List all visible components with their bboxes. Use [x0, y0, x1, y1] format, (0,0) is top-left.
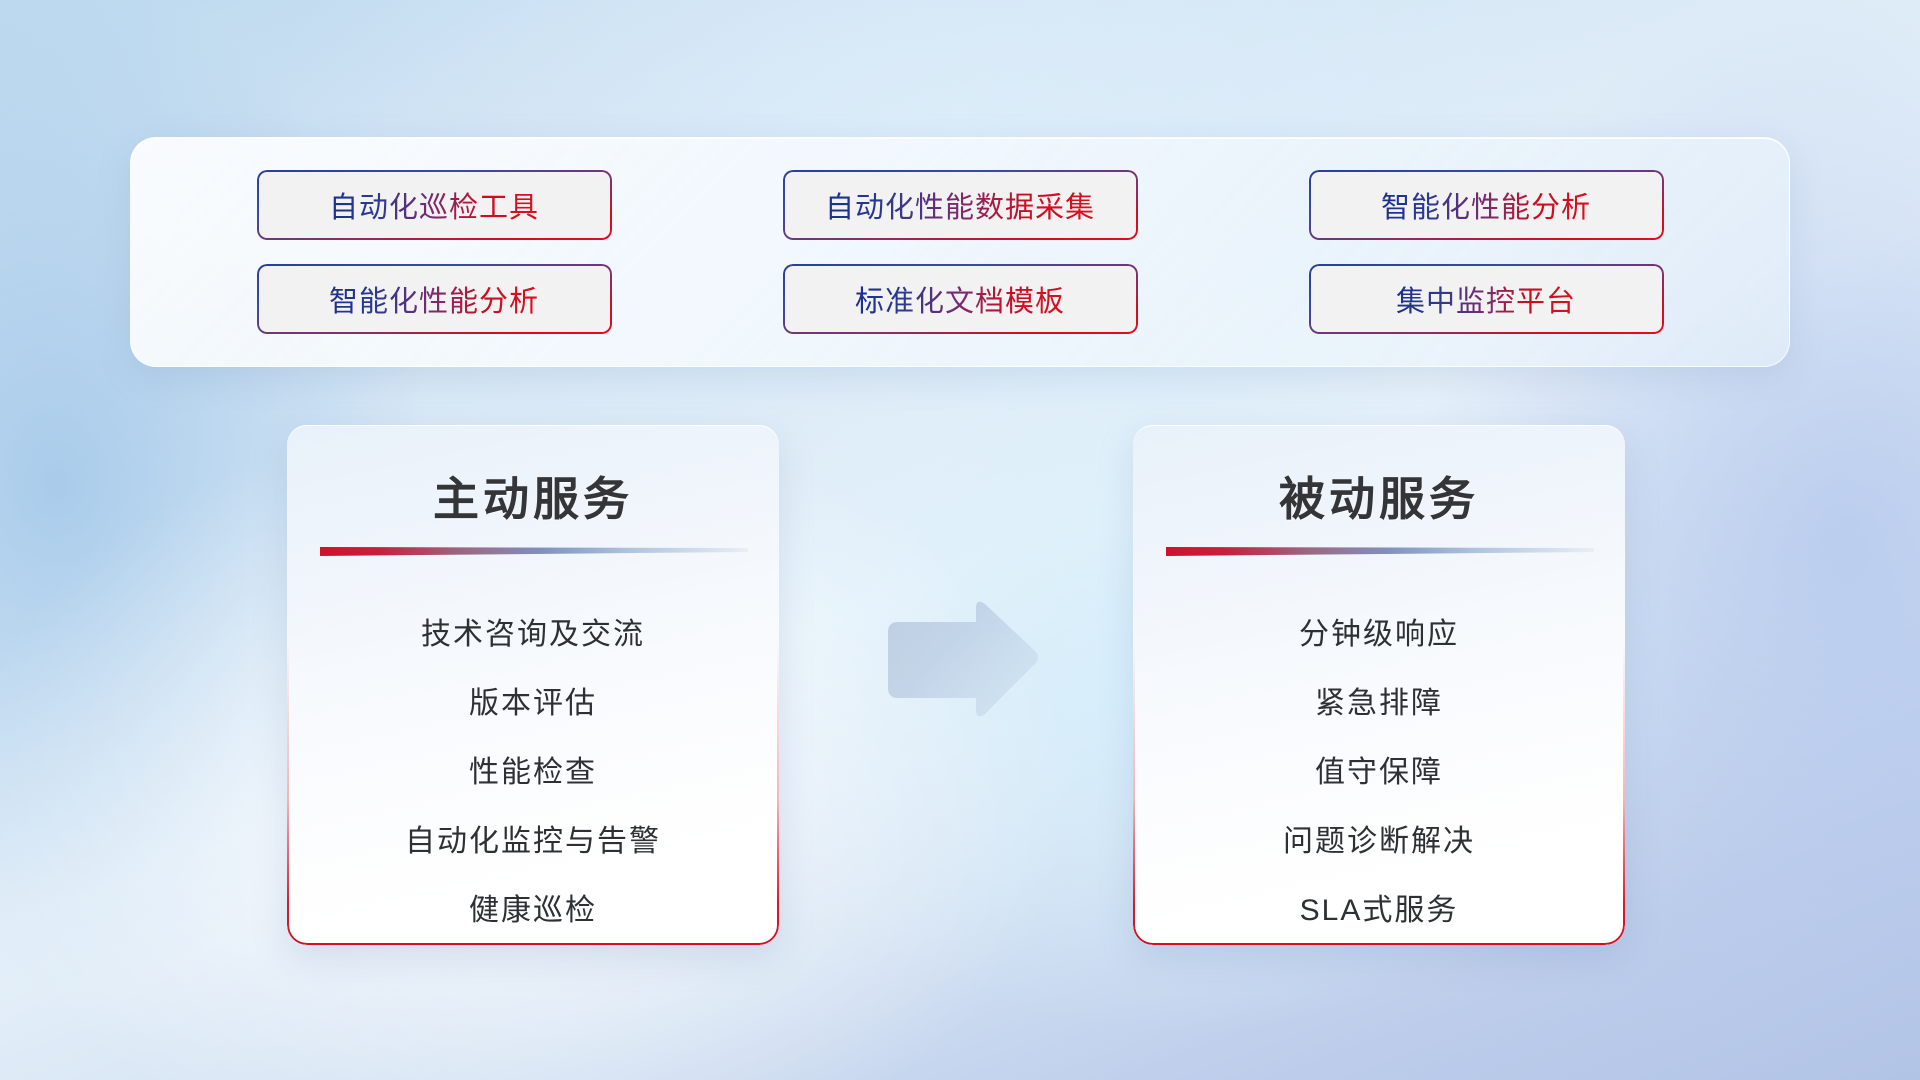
capability-tag-label: 自动化性能数据采集	[825, 184, 1095, 226]
slide-canvas: 自动化巡检工具 自动化性能数据采集 智能化性能分析 智能化性能分析 标准化文档模…	[0, 0, 1920, 1080]
capability-tag[interactable]: 自动化巡检工具	[257, 170, 612, 240]
card-title: 被动服务	[1133, 463, 1625, 529]
list-item: 健康巡检	[469, 876, 597, 945]
card-title: 主动服务	[287, 463, 779, 529]
capability-tag-label: 智能化性能分析	[1381, 184, 1591, 226]
capability-tag[interactable]: 智能化性能分析	[1309, 170, 1664, 240]
capability-tag-grid: 自动化巡检工具 自动化性能数据采集 智能化性能分析 智能化性能分析 标准化文档模…	[131, 138, 1789, 366]
capability-tag-label: 集中监控平台	[1396, 278, 1576, 320]
list-item: 分钟级响应	[1299, 600, 1459, 669]
capability-tag-label: 标准化文档模板	[855, 278, 1065, 320]
list-item: 自动化监控与告警	[405, 807, 661, 876]
card-title-underline	[1166, 545, 1594, 557]
capability-tag[interactable]: 自动化性能数据采集	[783, 170, 1138, 240]
list-item: 版本评估	[469, 669, 597, 738]
capability-tag[interactable]: 标准化文档模板	[783, 264, 1138, 334]
arrow-right-icon	[878, 598, 1040, 724]
capability-tag[interactable]: 集中监控平台	[1309, 264, 1664, 334]
card-title-underline	[320, 545, 748, 557]
card-item-list: 技术咨询及交流 版本评估 性能检查 自动化监控与告警 健康巡检	[287, 580, 779, 945]
capability-tag[interactable]: 智能化性能分析	[257, 264, 612, 334]
list-item: 问题诊断解决	[1283, 807, 1475, 876]
list-item: 值守保障	[1315, 738, 1443, 807]
list-item: 技术咨询及交流	[421, 600, 645, 669]
service-card-passive[interactable]: 被动服务 分钟级响应 紧急排障 值守保障	[1133, 425, 1625, 945]
card-item-list: 分钟级响应 紧急排障 值守保障 问题诊断解决 SLA式服务	[1133, 580, 1625, 945]
capability-tag-label: 自动化巡检工具	[329, 184, 539, 226]
capability-tag-panel: 自动化巡检工具 自动化性能数据采集 智能化性能分析 智能化性能分析 标准化文档模…	[130, 137, 1790, 367]
capability-tag-label: 智能化性能分析	[329, 278, 539, 320]
list-item: 紧急排障	[1315, 669, 1443, 738]
list-item: SLA式服务	[1300, 876, 1459, 945]
service-card-active[interactable]: 主动服务 技术咨询及交流 版本评估 性能检查	[287, 425, 779, 945]
list-item: 性能检查	[469, 738, 597, 807]
